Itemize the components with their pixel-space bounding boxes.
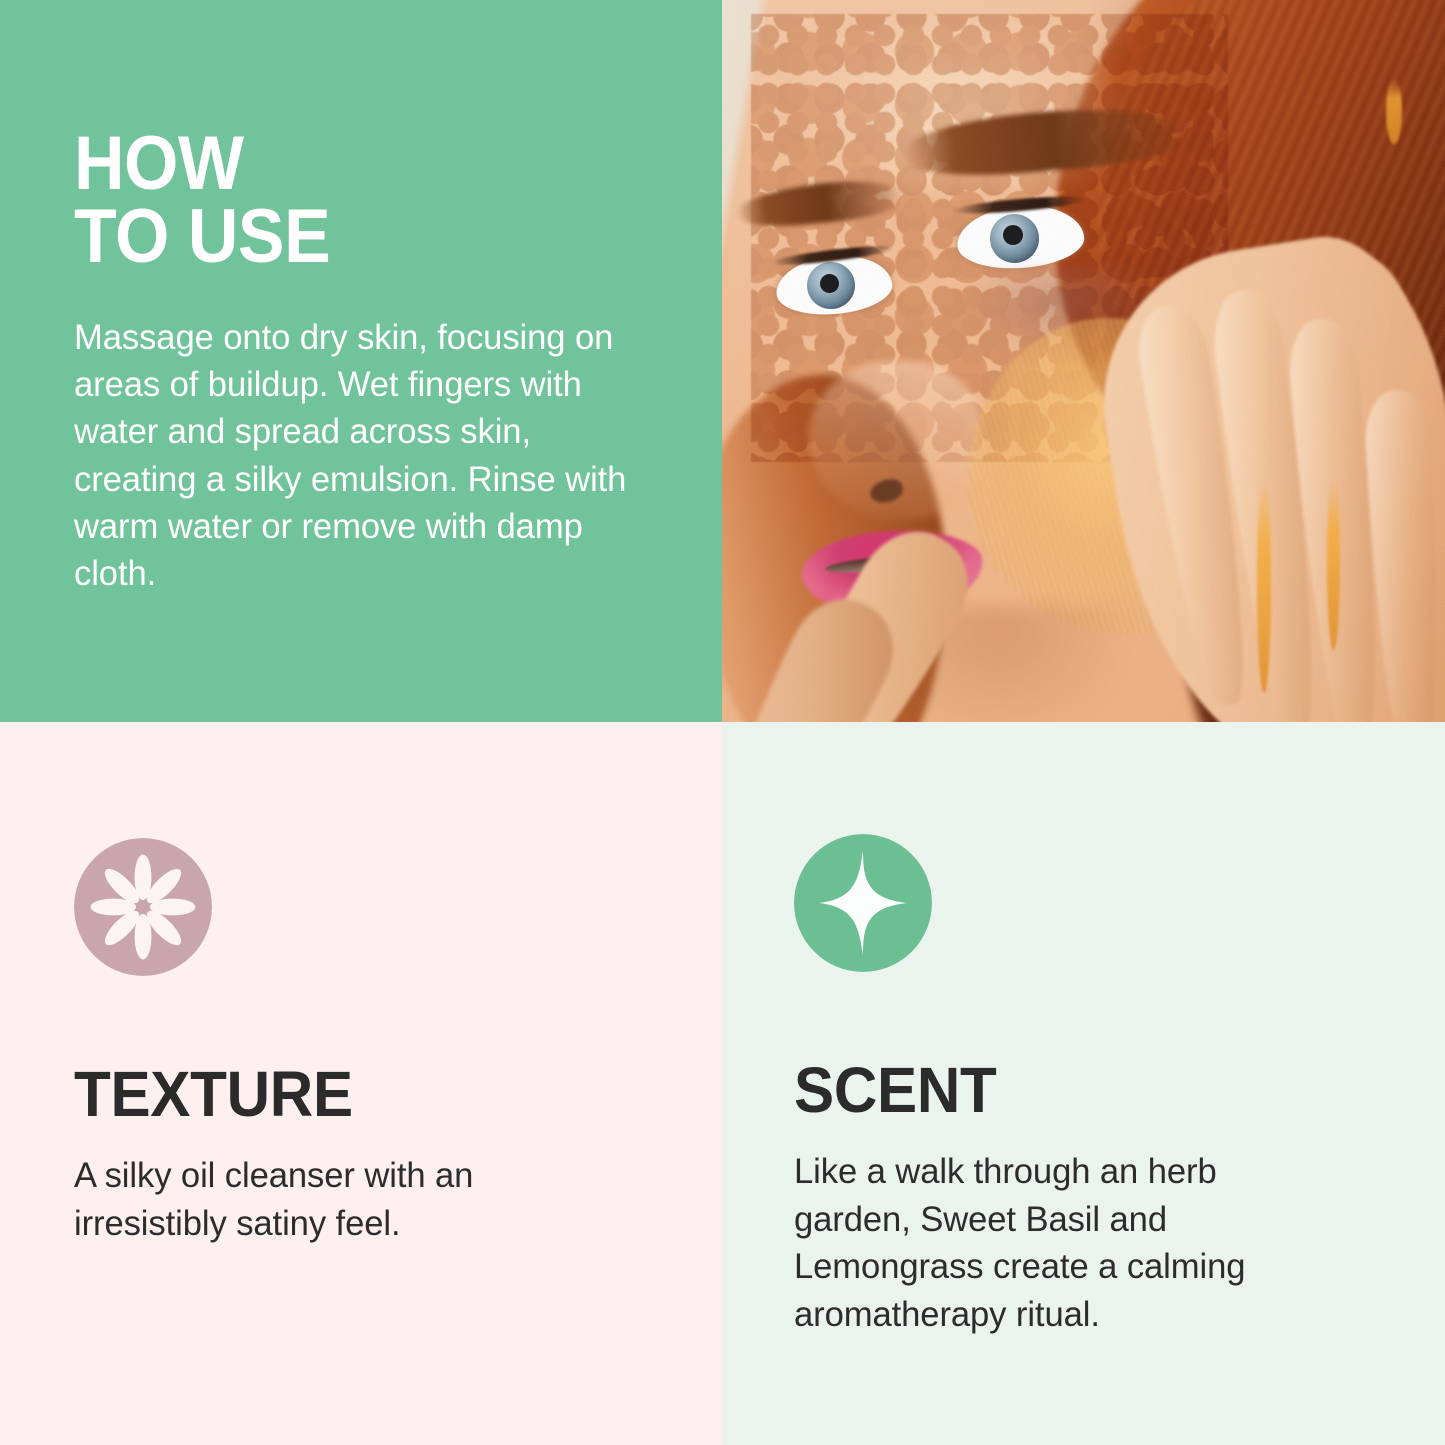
scent-title: SCENT: [794, 1058, 1338, 1122]
flower-icon: [74, 838, 212, 976]
texture-title: TEXTURE: [74, 1062, 615, 1126]
how-to-use-panel: HOW TO USE Massage onto dry skin, focusi…: [0, 0, 722, 722]
pupil-left: [820, 274, 840, 293]
how-to-use-body: Massage onto dry skin, focusing on areas…: [74, 314, 636, 597]
scent-panel: SCENT Like a walk through an herb garden…: [722, 722, 1445, 1445]
model-photo: [722, 0, 1445, 722]
texture-panel: TEXTURE A silky oil cleanser with an irr…: [0, 722, 722, 1445]
pupil-right: [1003, 225, 1023, 245]
texture-body: A silky oil cleanser with an irresistibl…: [74, 1152, 620, 1247]
sparkle-icon: [794, 834, 932, 972]
product-feature-grid: HOW TO USE Massage onto dry skin, focusi…: [0, 0, 1445, 1445]
scent-body: Like a walk through an herb garden, Swee…: [794, 1148, 1340, 1338]
how-to-use-title: HOW TO USE: [74, 128, 604, 274]
oil-drip-3: [1386, 79, 1402, 144]
